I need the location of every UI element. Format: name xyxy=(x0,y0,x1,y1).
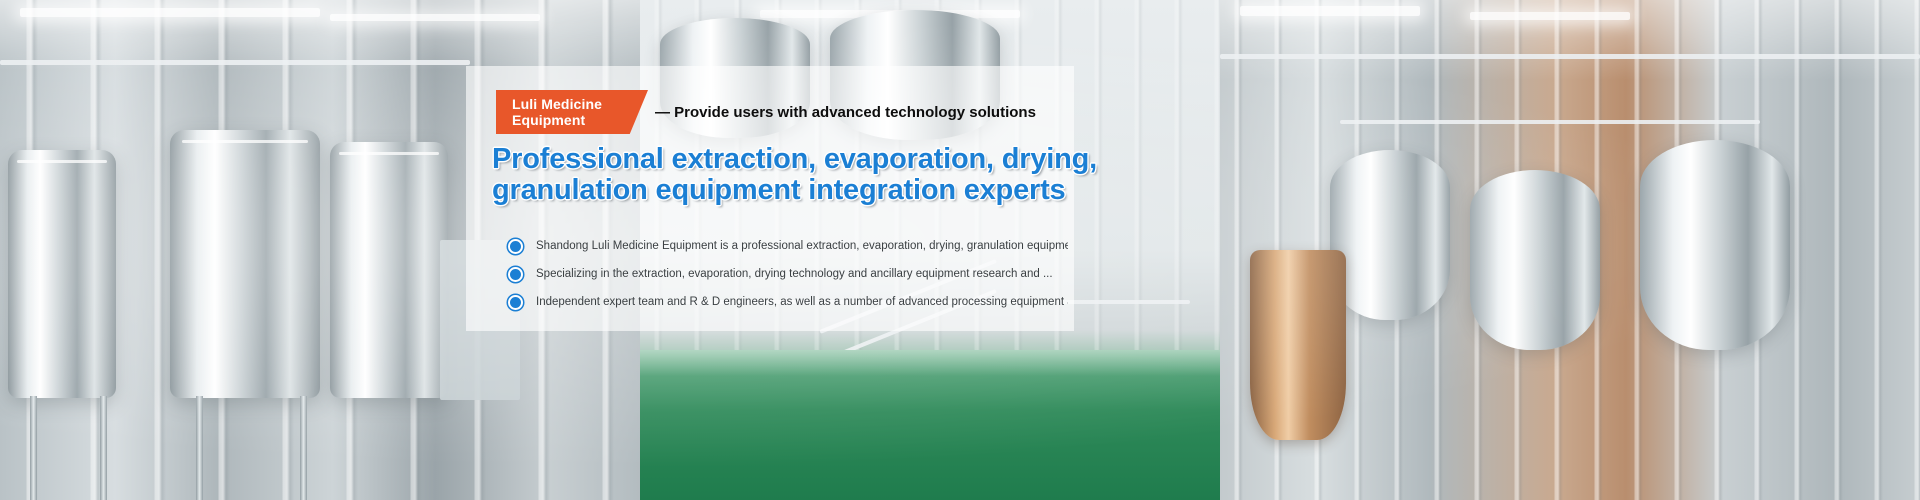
headline-line1: Professional extraction, evaporation, dr… xyxy=(492,144,1072,175)
list-item-text: Specializing in the extraction, evaporat… xyxy=(536,267,1053,281)
list-item[interactable]: Specializing in the extraction, evaporat… xyxy=(508,260,1068,288)
brand-tag: Luli Medicine Equipment xyxy=(496,90,648,134)
tagline: — Provide users with advanced technology… xyxy=(655,104,1036,121)
bullet-point-icon xyxy=(508,267,523,282)
list-item-text: Independent expert team and R & D engine… xyxy=(536,295,1068,309)
list-item[interactable]: Independent expert team and R & D engine… xyxy=(508,288,1068,316)
list-item[interactable]: Shandong Luli Medicine Equipment is a pr… xyxy=(508,232,1068,260)
feature-bullet-list: Shandong Luli Medicine Equipment is a pr… xyxy=(508,232,1068,316)
headline-line2: granulation equipment integration expert… xyxy=(492,175,1072,206)
brand-tag-line1: Luli Medicine xyxy=(512,96,648,112)
bullet-point-icon xyxy=(508,295,523,310)
list-item-text: Shandong Luli Medicine Equipment is a pr… xyxy=(536,239,1068,253)
bullet-point-icon xyxy=(508,239,523,254)
hero-banner: Luli Medicine Equipment — Provide users … xyxy=(0,0,1920,500)
headline: Professional extraction, evaporation, dr… xyxy=(492,144,1072,206)
brand-tag-line2: Equipment xyxy=(512,112,648,128)
